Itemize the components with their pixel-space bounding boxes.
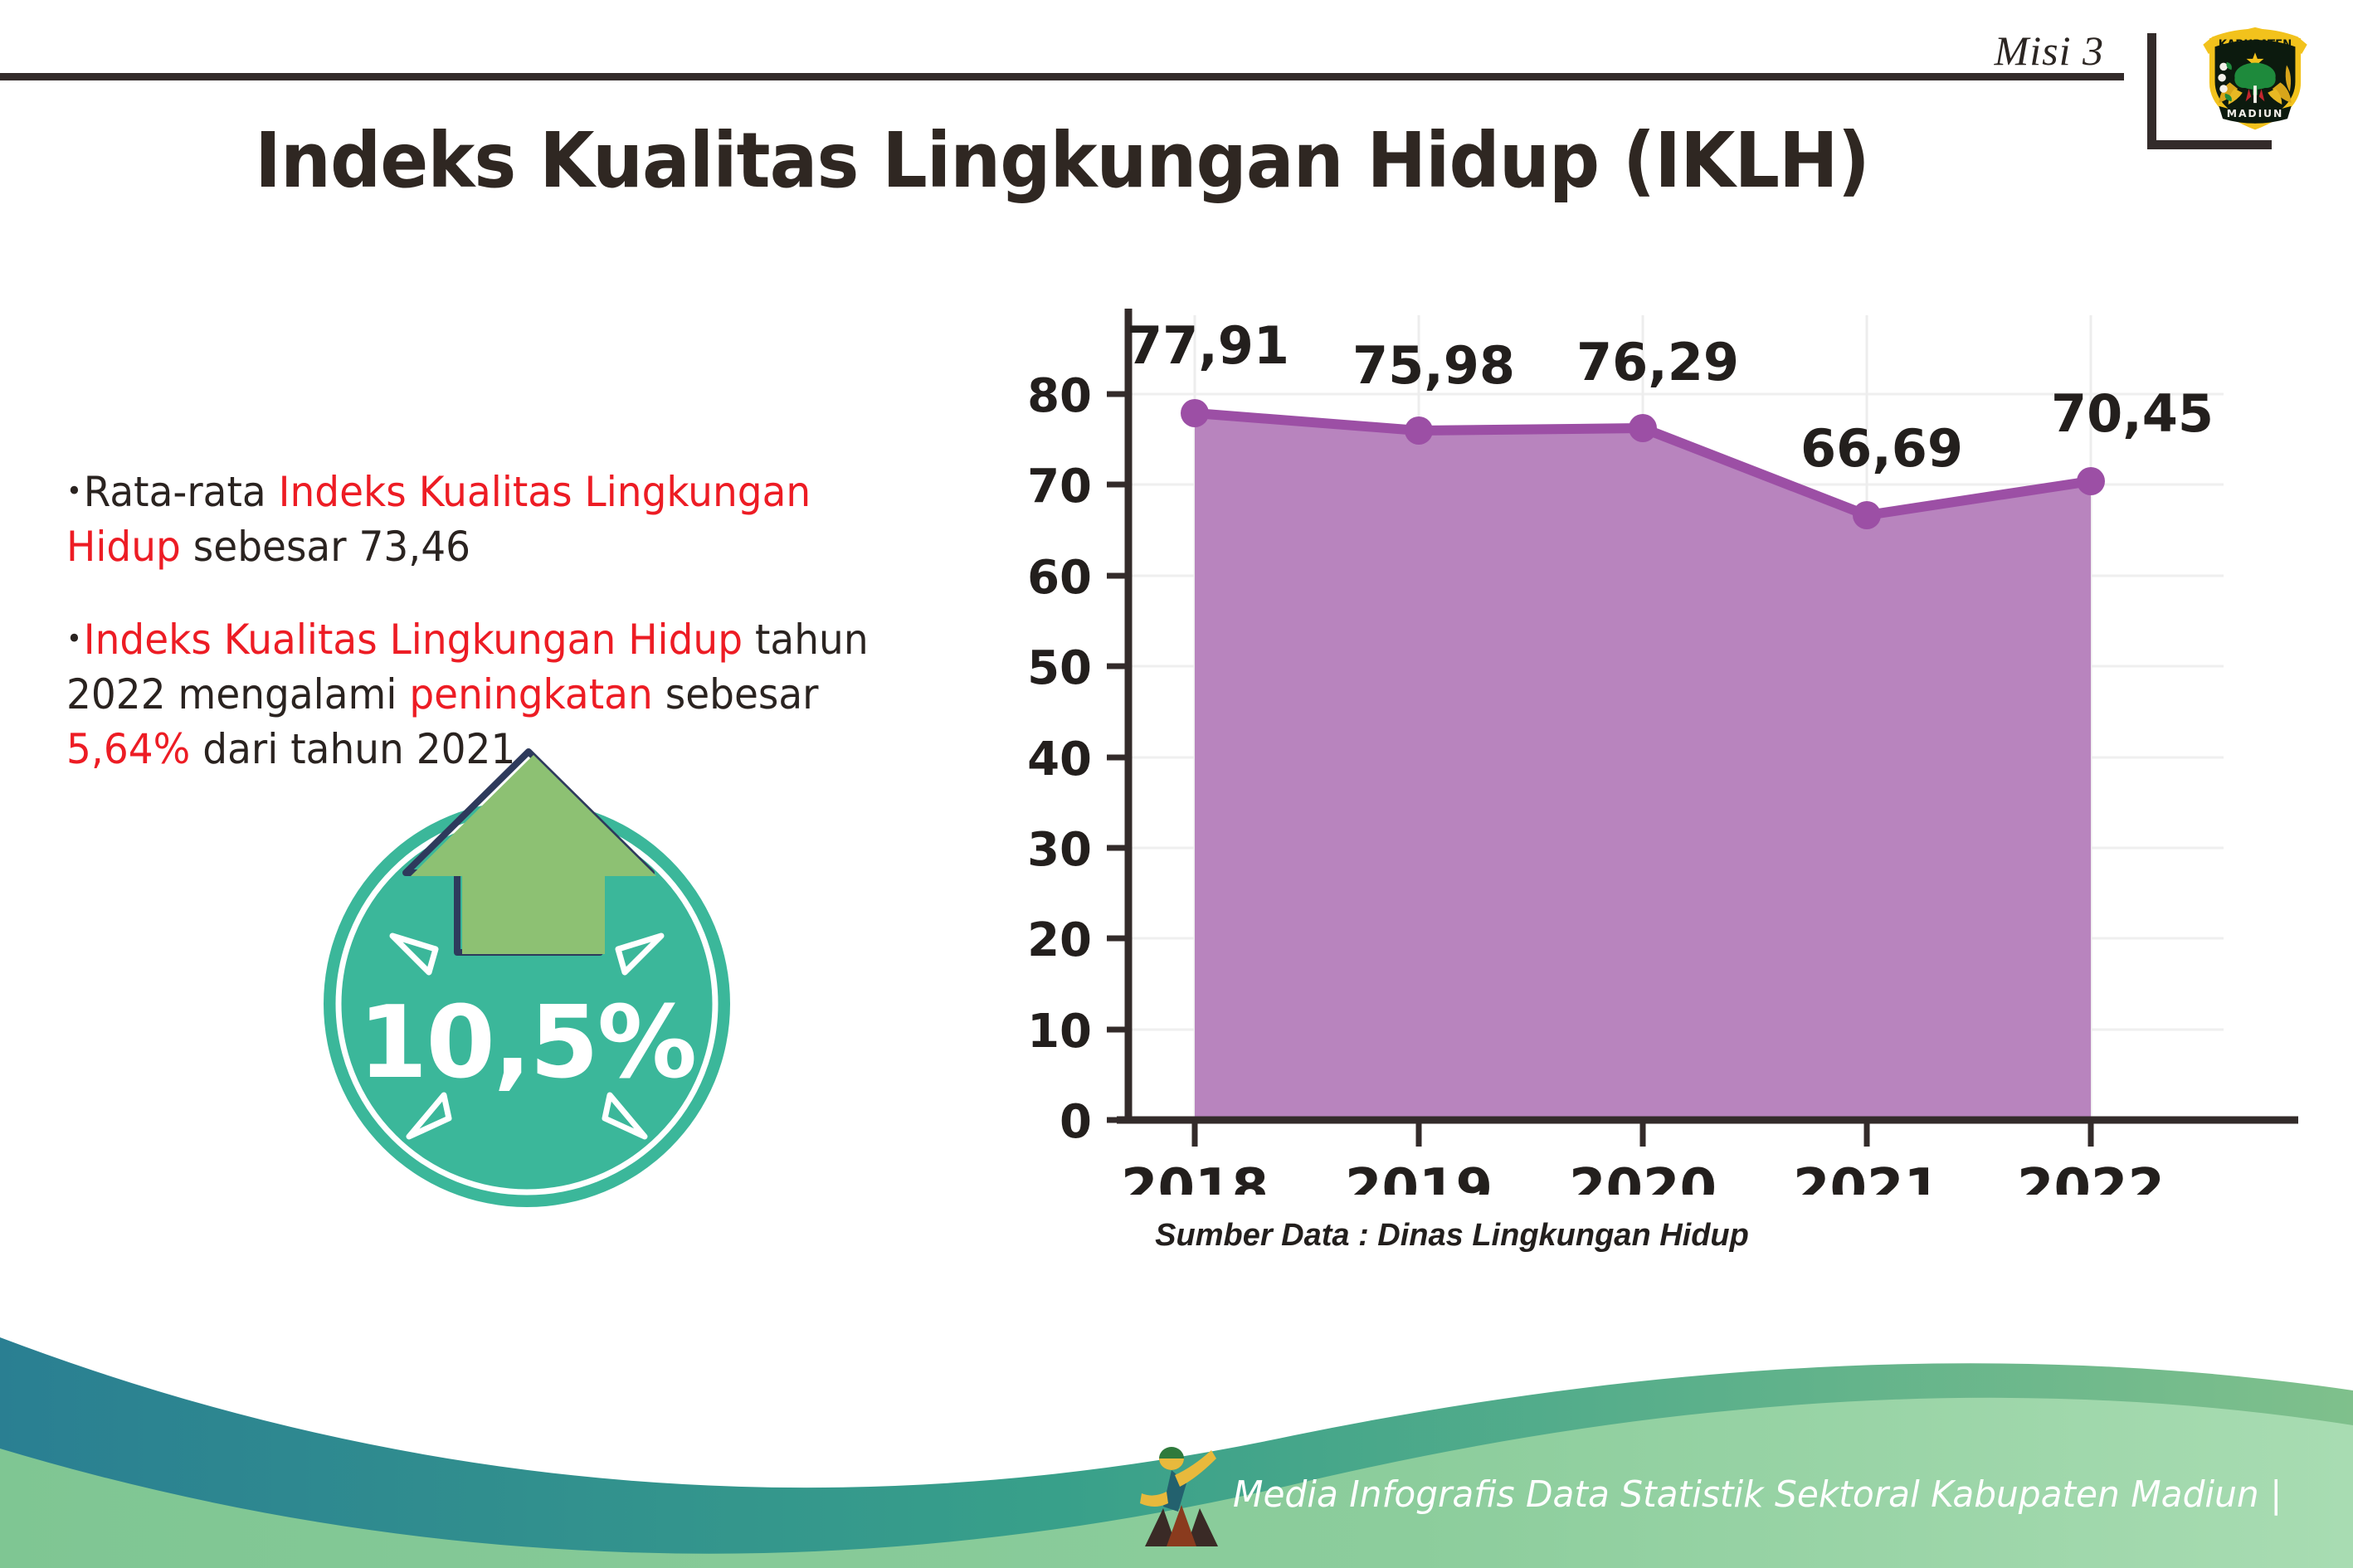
- data-point-marker: [1405, 416, 1433, 445]
- x-axis-tick-labels: 2018 2019 2020 2021 2022: [1121, 1158, 2165, 1195]
- bullet-text-part-highlight: peningkatan: [409, 670, 652, 718]
- bullet-text-part-highlight: Indeks Kualitas Lingkungan Hidup: [84, 616, 743, 664]
- data-value-label: 70,45: [2051, 383, 2214, 444]
- data-value-label: 77,91: [1127, 315, 1289, 376]
- y-tick-label: 50: [1027, 641, 1092, 695]
- chart-svg: 80 70 60 50 40 30 20 10 0 2018 2019 2020…: [954, 290, 2298, 1195]
- media-infografis-figure-icon: [1138, 1445, 1225, 1550]
- y-tick-label: 0: [1060, 1095, 1092, 1149]
- data-point-marker: [1181, 399, 1209, 427]
- corner-bracket-horizontal: [2147, 140, 2272, 149]
- corner-bracket-vertical: [2147, 33, 2156, 149]
- emblem-top-text: KABUPATEN: [2219, 39, 2292, 51]
- badge-value-label: 10,5%: [319, 986, 734, 1101]
- y-tick-label: 20: [1027, 913, 1092, 967]
- bullet-glyph: •: [66, 625, 82, 653]
- y-tick-label: 70: [1027, 460, 1092, 514]
- y-tick-label: 30: [1027, 823, 1092, 877]
- area-fill: [1195, 413, 2091, 1120]
- misi-label: Misi 3: [1995, 27, 2104, 75]
- bullet-text-part: Rata-rata: [84, 468, 279, 516]
- x-axis-ticks: [1195, 1120, 2091, 1147]
- bullet-text-part: sebesar 73,46: [181, 523, 470, 571]
- bullet-text-part-highlight: 5,64%: [66, 725, 190, 773]
- y-tick-label: 10: [1027, 1005, 1092, 1059]
- increase-badge: 10,5%: [319, 747, 784, 1211]
- x-tick-label: 2022: [2017, 1158, 2165, 1195]
- footer-caption: Media Infografis Data Statistik Sektoral…: [1233, 1473, 2282, 1516]
- bullet-item: •Rata-rata Indeks Kualitas Lingkungan Hi…: [66, 465, 893, 574]
- data-point-marker: [1853, 501, 1881, 529]
- y-tick-label: 60: [1027, 551, 1092, 605]
- header-divider: [0, 73, 2124, 80]
- y-axis-tick-labels: 80 70 60 50 40 30 20 10 0: [1027, 369, 1092, 1149]
- x-tick-label: 2021: [1793, 1158, 1941, 1195]
- y-tick-label: 80: [1027, 369, 1092, 423]
- x-tick-label: 2018: [1121, 1158, 1269, 1195]
- chart-source-note: Sumber Data : Dinas Lingkungan Hidup: [954, 1218, 1950, 1254]
- data-value-label: 66,69: [1800, 418, 1963, 479]
- emblem-bottom-text: MADIUN: [2227, 108, 2283, 119]
- data-value-label: 75,98: [1352, 335, 1515, 396]
- iklh-area-chart: 80 70 60 50 40 30 20 10 0 2018 2019 2020…: [954, 290, 2298, 1286]
- data-point-marker: [1629, 414, 1657, 442]
- x-tick-label: 2019: [1345, 1158, 1493, 1195]
- page-title: Indeks Kualitas Lingkungan Hidup (IKLH): [75, 116, 2050, 205]
- y-tick-label: 40: [1027, 733, 1092, 786]
- data-value-label: 76,29: [1576, 332, 1739, 392]
- data-point-marker: [2077, 467, 2105, 495]
- kabupaten-madiun-emblem-icon: KABUPATEN MADIUN: [2192, 10, 2318, 136]
- bullet-text-part: sebesar: [653, 670, 819, 718]
- x-tick-label: 2020: [1569, 1158, 1717, 1195]
- bullet-glyph: •: [66, 477, 82, 505]
